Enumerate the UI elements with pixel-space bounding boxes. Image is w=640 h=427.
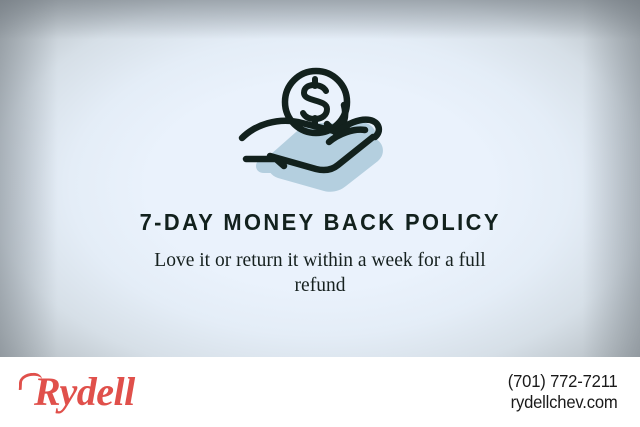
promo-panel: 7-DAY MONEY BACK POLICY Love it or retur… [0,0,640,357]
promo-ad-card: 7-DAY MONEY BACK POLICY Love it or retur… [0,0,640,427]
money-back-hand-icon-svg [234,62,406,194]
rydell-logo[interactable]: Rydell [28,357,135,427]
logo-swash-icon [19,372,43,390]
dealer-contact-block: (701) 772-7211 rydellchev.com [502,371,618,414]
dollar-sign-icon [303,79,327,125]
dealer-phone-number[interactable]: (701) 772-7211 [508,371,618,392]
dealer-website-url[interactable]: rydellchev.com [508,392,618,413]
promo-subheadline: Love it or return it within a week for a… [137,249,503,299]
money-back-hand-icon [234,62,406,194]
dealer-footer-bar: Rydell (701) 772-7211 rydellchev.com [0,357,640,427]
promo-headline: 7-DAY MONEY BACK POLICY [139,210,500,236]
rydell-wordmark: Rydell [28,372,135,412]
